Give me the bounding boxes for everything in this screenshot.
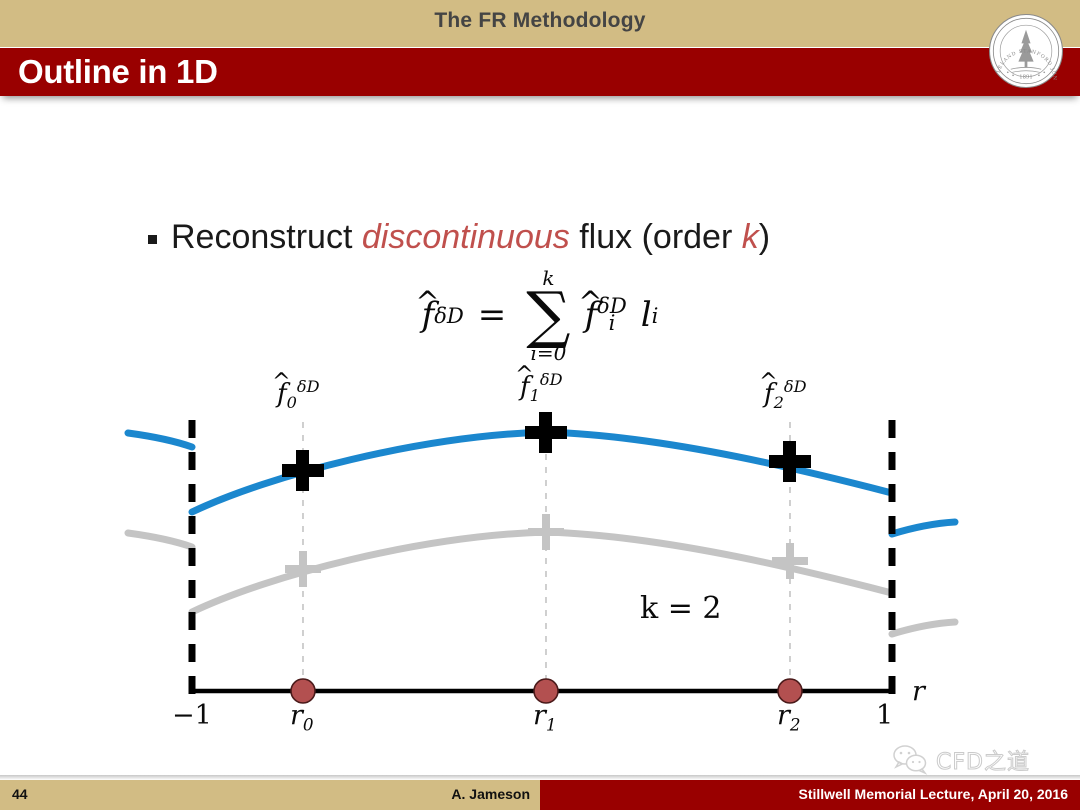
axis-label-r: r [912, 676, 925, 707]
formula-summation: k ∑ i=0 [526, 268, 570, 363]
f2-hat-mark: ^ [759, 369, 778, 395]
order-annotation: k = 2 [640, 591, 721, 626]
bullet-emphasis-k: k [742, 218, 759, 256]
reference-marker-1 [528, 514, 564, 550]
reference-marker-0 [285, 551, 321, 587]
bullet-prefix: Reconstruct [171, 218, 362, 256]
svg-text:1891: 1891 [1019, 74, 1033, 80]
page-title: Outline in 1D [18, 52, 218, 92]
bullet-suffix: ) [759, 218, 770, 256]
f2-sup: δD [784, 377, 807, 396]
flux-marker-f1 [525, 412, 567, 453]
flux-marker-label-f1: ^f1δD [520, 370, 563, 405]
tick-label-left: −1 [172, 700, 212, 731]
flux-marker-label-f0: f^f0δD [277, 377, 320, 412]
reference-curve-right-neighbor [892, 622, 955, 634]
watermark-text: CFD之道 [936, 744, 1030, 776]
flux-curve-right-neighbor [892, 522, 955, 534]
formula-lhs-hat: ^ [415, 285, 439, 319]
footer-lecture: Stillwell Memorial Lecture, April 20, 20… [560, 786, 1068, 802]
f0-sup: δD [297, 377, 320, 396]
solution-point-label-r1: r1 [533, 700, 557, 734]
bullet-square-icon [148, 235, 157, 244]
bullet-text: Reconstruct discontinuous flux (order k) [171, 218, 770, 257]
f1-hat-mark: ^ [515, 362, 534, 388]
flux-expansion-formula: ^fδD = k ∑ i=0 ^f δD i li [0, 268, 1080, 363]
formula-sigma-icon: ∑ [526, 288, 570, 343]
section-title: The FR Methodology [0, 9, 1080, 33]
f1-sub: 1 [530, 386, 540, 405]
f1-sup: δD [540, 370, 563, 389]
flux-markers [282, 412, 811, 491]
f0-sub: 0 [287, 393, 297, 412]
flux-curve-left-neighbor [128, 433, 192, 447]
flux-reconstruction-chart: f^f0δD ^f1δD ^f2δD k = 2 −1 1 r r0 r1 r2 [0, 360, 1080, 740]
solution-point-label-r0: r0 [290, 700, 314, 734]
bullet-emphasis: discontinuous [362, 218, 570, 256]
flux-marker-f2 [769, 441, 811, 482]
f2-sub: 2 [774, 393, 784, 412]
stanford-seal-icon: 1891 LELAND STANFORD JUNIOR UNIVERSITY [988, 13, 1064, 89]
formula-basis-sub: i [652, 303, 659, 328]
footer-author: A. Jameson [340, 786, 530, 802]
formula-term-hat: ^ [578, 285, 602, 319]
formula-equals: = [478, 295, 507, 335]
formula-lhs: ^f [422, 295, 435, 335]
page-number: 44 [12, 786, 28, 802]
flux-marker-f0 [282, 450, 324, 491]
formula-basis-base: l [641, 295, 652, 335]
wechat-bubbles-icon [890, 745, 932, 775]
cfd-watermark: CFD之道 [890, 742, 1070, 778]
solution-point-label-r2: r2 [777, 700, 801, 734]
flux-marker-label-f2: ^f2δD [764, 377, 807, 412]
bullet-middle: flux (order [570, 218, 742, 256]
slide: The FR Methodology Outline in 1D 1891 LE… [0, 0, 1080, 810]
bullet-item: Reconstruct discontinuous flux (order k) [148, 218, 770, 257]
reference-curves [128, 532, 955, 634]
reference-curve-left-neighbor [128, 533, 192, 547]
tick-label-right: 1 [876, 700, 893, 731]
f0-hat-mark: ^ [272, 369, 291, 395]
formula-term: ^f [585, 295, 598, 335]
